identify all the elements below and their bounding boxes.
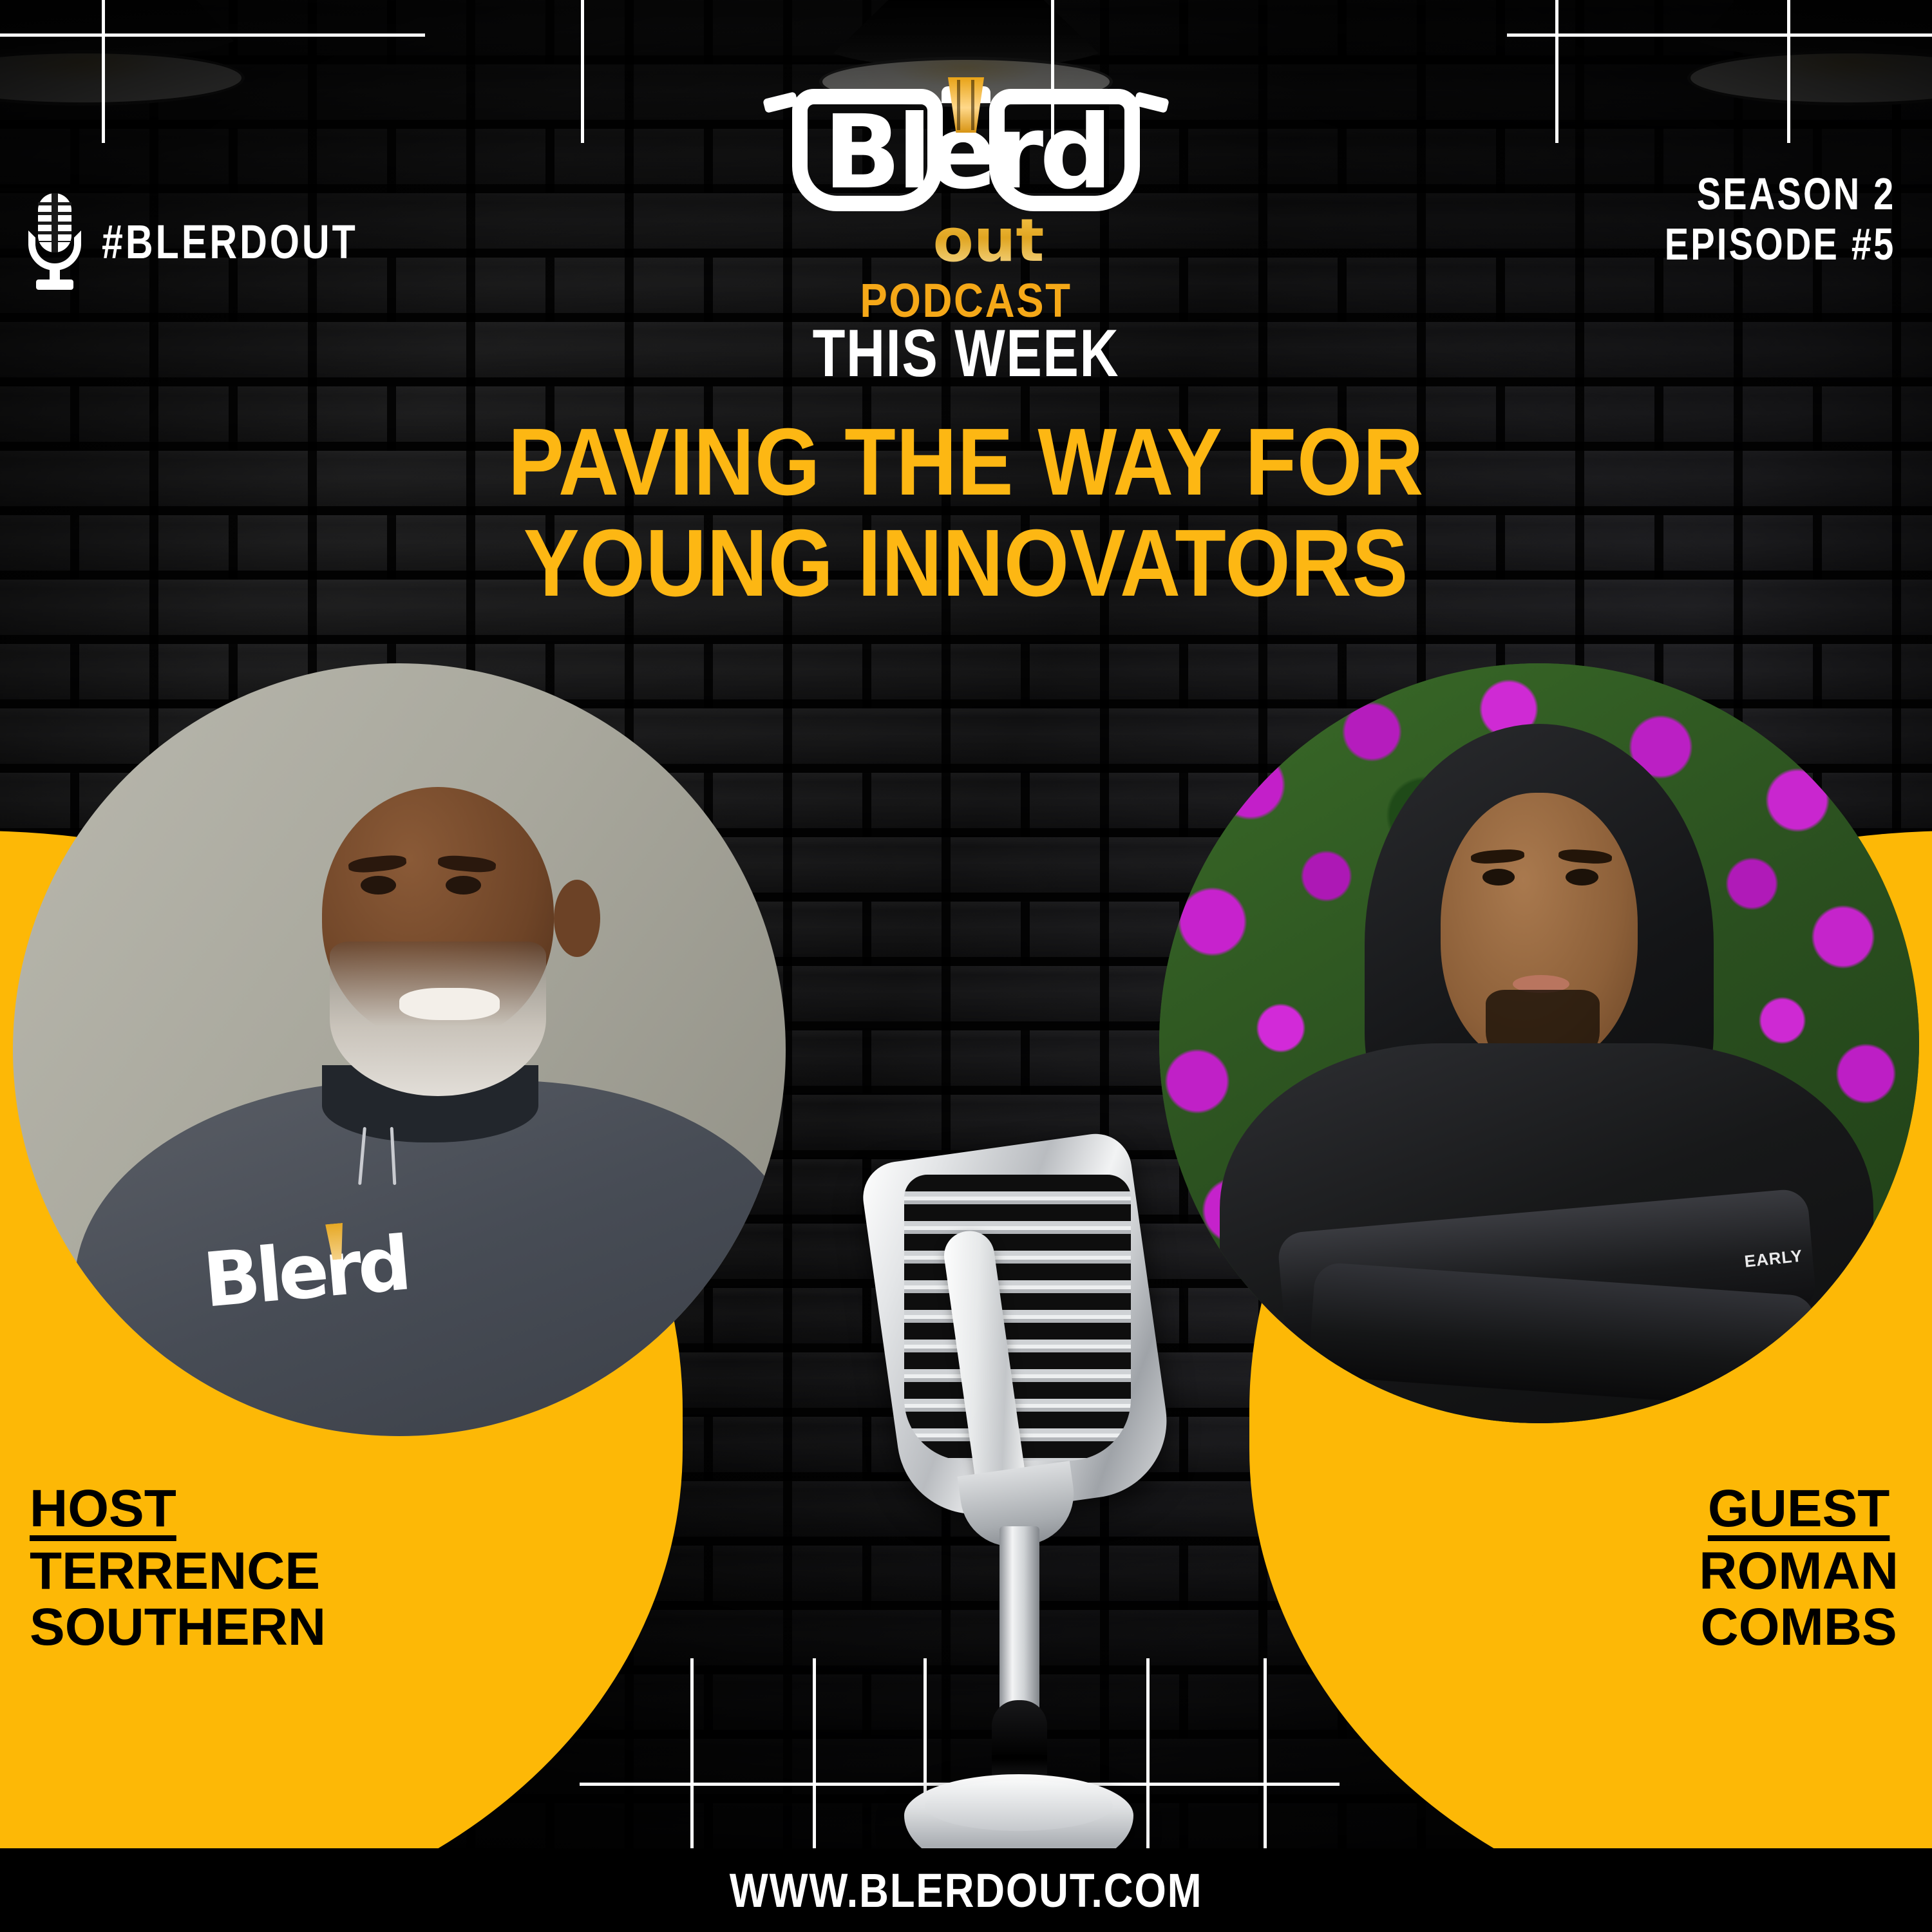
hashtag-text: #BLERDOUT: [102, 214, 358, 269]
host-figure: Blerd: [13, 663, 786, 1436]
episode-title-line-1: PAVING THE WAY FOR: [116, 412, 1816, 513]
this-week-kicker: THIS WEEK: [0, 316, 1932, 392]
hashtag-block: #BLERDOUT: [27, 193, 422, 290]
retro-microphone-icon: [882, 1146, 1153, 1880]
host-role-label: HOST: [30, 1481, 176, 1537]
host-last-name: SOUTHERN: [30, 1600, 326, 1656]
season-episode-block: SEASON 2 EPISODE #5: [1607, 169, 1896, 270]
episode-title-line-2: YOUNG INNOVATORS: [116, 513, 1816, 614]
podcast-episode-poster: Blerd EARLY: [0, 0, 1932, 1932]
blerd-out-logo: Blerd out PODCAST: [792, 67, 1140, 328]
grid-line-horizontal: [0, 33, 425, 37]
this-week-text: THIS WEEK: [813, 316, 1120, 392]
host-label-block: HOST TERRENCE SOUTHERN: [30, 1481, 326, 1656]
episode-title: PAVING THE WAY FOR YOUNG INNOVATORS: [0, 412, 1932, 614]
grid-line-vertical: [1555, 0, 1558, 143]
grid-line-vertical: [813, 1658, 816, 1880]
host-first-name: TERRENCE: [30, 1544, 326, 1600]
footer-bar: WWW.BLERDOUT.COM: [0, 1848, 1932, 1932]
website-url: WWW.BLERDOUT.COM: [730, 1863, 1203, 1918]
guest-role-label: GUEST: [1708, 1481, 1889, 1537]
grid-line-vertical: [1264, 1658, 1267, 1880]
guest-label-block: GUEST ROMAN COMBS: [1699, 1481, 1899, 1656]
season-text: SEASON 2: [1665, 169, 1896, 219]
guest-last-name: COMBS: [1699, 1600, 1899, 1656]
grid-line-vertical: [102, 0, 105, 143]
host-portrait: Blerd: [13, 663, 786, 1436]
guest-figure: EARLY: [1159, 663, 1919, 1423]
grid-line-vertical: [581, 0, 584, 143]
microphone-icon: [27, 193, 82, 290]
episode-text: EPISODE #5: [1665, 219, 1896, 269]
grid-line-horizontal: [1507, 33, 1932, 37]
guest-first-name: ROMAN: [1699, 1544, 1899, 1600]
guest-portrait: EARLY: [1159, 663, 1919, 1423]
logo-out-text: out: [792, 211, 1140, 270]
glasses-icon: Blerd: [792, 67, 1140, 215]
grid-line-vertical: [1787, 0, 1790, 143]
grid-line-vertical: [690, 1658, 694, 1880]
